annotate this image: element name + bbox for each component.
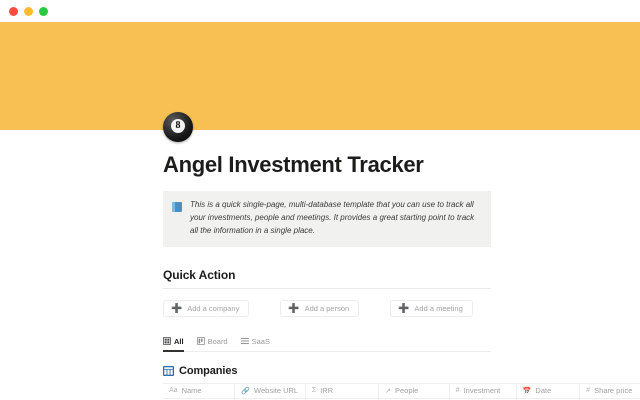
database-view-tabs: All Board SaaS	[163, 337, 491, 352]
column-header-investment[interactable]: # Investment	[450, 384, 517, 399]
tab-all[interactable]: All	[163, 337, 184, 348]
add-company-button[interactable]: ➕ Add a company	[163, 300, 249, 317]
add-meeting-label: Add a meeting	[414, 304, 462, 313]
number-icon: #	[586, 387, 590, 394]
table-header-row: Aa Name 🔗 Website URL Σ IRR ↗ People	[163, 384, 640, 399]
database-title-row: Companies	[163, 365, 640, 377]
column-label: Date	[535, 386, 551, 395]
add-person-label: Add a person	[305, 304, 350, 313]
link-icon: 🔗	[241, 387, 250, 395]
column-label: Share price	[594, 386, 632, 395]
number-icon: #	[456, 387, 460, 394]
page-icon-eight-ball[interactable]: 8	[163, 112, 193, 142]
formula-icon: Σ	[312, 387, 316, 394]
add-meeting-button[interactable]: ➕ Add a meeting	[390, 300, 473, 317]
quick-action-buttons: ➕ Add a company ➕ Add a person ➕ Add a m…	[163, 300, 640, 317]
column-header-date[interactable]: 📅 Date	[517, 384, 580, 399]
tab-all-label: All	[174, 337, 184, 346]
section-divider	[163, 288, 491, 289]
app-window: 8 Angel Investment Tracker This is a qui…	[0, 0, 640, 400]
column-header-irr[interactable]: Σ IRR	[306, 384, 379, 399]
page-title[interactable]: Angel Investment Tracker	[163, 152, 640, 178]
column-header-people[interactable]: ↗ People	[379, 384, 450, 399]
database-title[interactable]: Companies	[179, 365, 237, 377]
page-cover-image[interactable]	[0, 22, 640, 130]
eight-ball-number: 8	[171, 119, 185, 133]
column-label: People	[395, 386, 418, 395]
bookmark-icon	[172, 202, 182, 212]
window-titlebar	[0, 0, 640, 22]
table-database-icon	[163, 366, 174, 376]
add-company-label: Add a company	[187, 304, 239, 313]
add-person-button[interactable]: ➕ Add a person	[280, 300, 359, 317]
text-type-icon: Aa	[169, 387, 178, 394]
callout-block: This is a quick single-page, multi-datab…	[163, 191, 491, 247]
column-header-share-price[interactable]: # Share price	[580, 384, 640, 399]
column-header-website-url[interactable]: 🔗 Website URL	[235, 384, 306, 399]
relation-icon: ↗	[385, 387, 391, 395]
tab-saas-label: SaaS	[252, 337, 270, 346]
tab-saas[interactable]: SaaS	[241, 337, 270, 348]
minimize-window-button[interactable]	[24, 7, 33, 16]
column-label: IRR	[320, 386, 333, 395]
board-view-icon	[197, 337, 205, 345]
column-label: Name	[182, 386, 202, 395]
page-content: Angel Investment Tracker This is a quick…	[0, 152, 640, 400]
callout-text: This is a quick single-page, multi-datab…	[190, 199, 481, 238]
column-label: Investment	[464, 386, 501, 395]
quick-action-heading: Quick Action	[163, 268, 640, 282]
tab-board[interactable]: Board	[197, 337, 228, 348]
calendar-icon: 📅	[523, 387, 532, 395]
list-view-icon	[241, 337, 249, 345]
plus-icon: ➕	[171, 304, 182, 313]
gallery-view-icon	[163, 337, 171, 345]
column-label: Website URL	[254, 386, 298, 395]
companies-database: Companies Aa Name 🔗 Website URL Σ IRR	[163, 365, 640, 400]
column-header-name[interactable]: Aa Name	[163, 384, 235, 399]
plus-icon: ➕	[288, 304, 299, 313]
maximize-window-button[interactable]	[39, 7, 48, 16]
companies-table: Aa Name 🔗 Website URL Σ IRR ↗ People	[163, 383, 640, 400]
tab-board-label: Board	[208, 337, 228, 346]
close-window-button[interactable]	[9, 7, 18, 16]
plus-icon: ➕	[398, 304, 409, 313]
